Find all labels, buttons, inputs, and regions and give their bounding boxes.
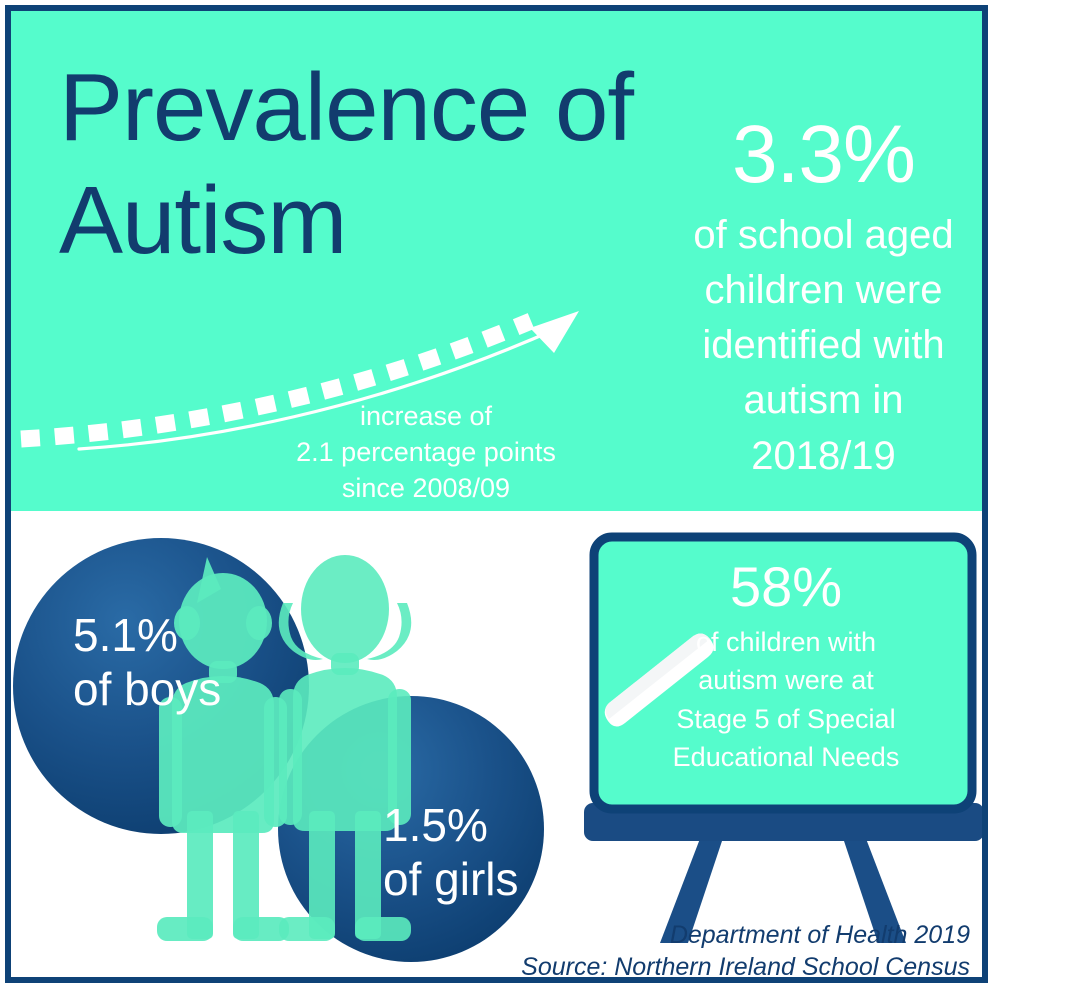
source-credit: Department of Health 2019 Source: Northe…: [521, 919, 970, 983]
whiteboard-stat-value: 58%: [612, 559, 960, 615]
headline-stat: 3.3% of school aged children were identi…: [651, 116, 982, 484]
figures-svg: [11, 511, 581, 983]
increase-note: increase of 2.1 percentage points since …: [211, 399, 641, 507]
whiteboard-stat: 58% of children with autism were at Stag…: [612, 559, 960, 776]
whiteboard-stat-description: of children with autism were at Stage 5 …: [612, 623, 960, 776]
girls-stat-label: 1.5% of girls: [383, 799, 518, 907]
headline-stat-value: 3.3%: [651, 116, 982, 194]
credit-source: Source: Northern Ireland School Census: [521, 951, 970, 983]
boys-stat-label: 5.1% of boys: [73, 609, 221, 717]
whiteboard-graphic: 58% of children with autism were at Stag…: [576, 531, 982, 971]
poster-frame: Prevalence of Autism increase of 2.1 per…: [5, 5, 988, 983]
headline-stat-description: of school aged children were identified …: [651, 208, 982, 484]
header-panel: Prevalence of Autism increase of 2.1 per…: [11, 11, 982, 511]
page-title: Prevalence of Autism: [59, 51, 679, 278]
credit-publisher: Department of Health 2019: [521, 919, 970, 951]
infographic-poster: Prevalence of Autism increase of 2.1 per…: [0, 0, 1080, 994]
gender-split-graphic: 5.1% of boys 1.5% of girls: [11, 511, 581, 983]
body-panel: 5.1% of boys 1.5% of girls: [11, 511, 982, 983]
